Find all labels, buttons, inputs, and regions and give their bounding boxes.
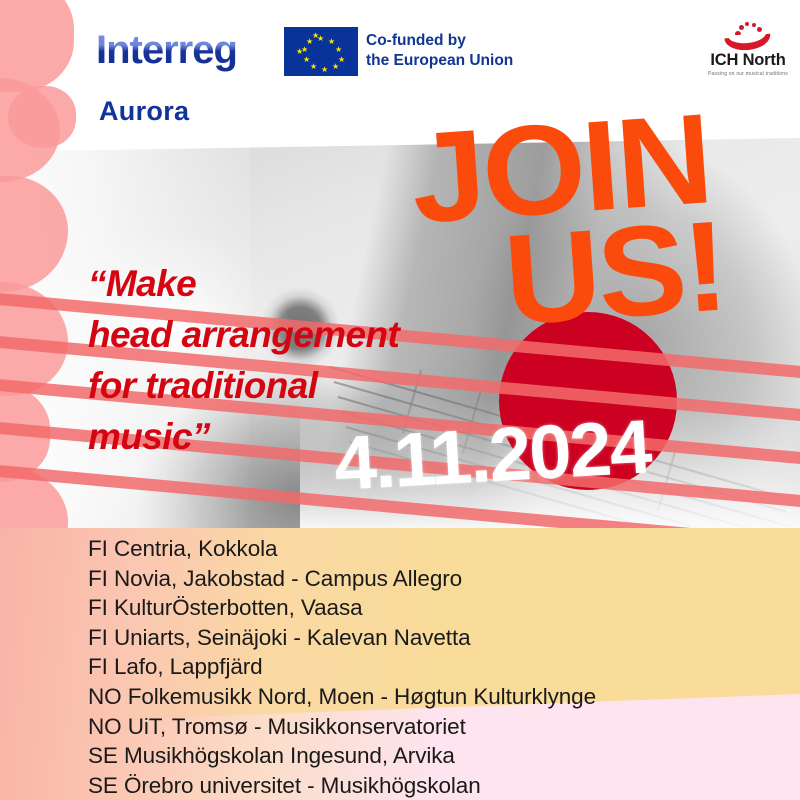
interreg-logo-text: Interreg bbox=[96, 28, 237, 73]
venue-item: FI Novia, Jakobstad - Campus Allegro bbox=[88, 564, 596, 594]
venue-panel: FI Centria, Kokkola FI Novia, Jakobstad … bbox=[0, 528, 800, 800]
eu-flag-icon: ★ ★ ★ ★ ★ ★ ★ ★ ★ ★ ★ ★ bbox=[284, 27, 358, 76]
join-us-callout: JOIN US! bbox=[408, 105, 720, 341]
venue-list: FI Centria, Kokkola FI Novia, Jakobstad … bbox=[88, 534, 596, 800]
partner-logo-tagline: Passing on our musical traditions bbox=[700, 71, 796, 77]
programme-name: Aurora bbox=[99, 96, 189, 127]
venue-item: FI KulturÖsterbotten, Vaasa bbox=[88, 593, 596, 623]
eu-funding-line-1: Co-funded by bbox=[366, 31, 513, 51]
venue-item: FI Centria, Kokkola bbox=[88, 534, 596, 564]
hand-with-dots-icon bbox=[722, 22, 774, 50]
poster-canvas: “Make head arrangement for traditional m… bbox=[0, 0, 800, 800]
venue-item: SE Örebro universitet - Musikhögskolan bbox=[88, 771, 596, 800]
venue-item: FI Uniarts, Seinäjoki - Kalevan Navetta bbox=[88, 623, 596, 653]
eu-funding-line-2: the European Union bbox=[366, 51, 513, 71]
venue-item: FI Lafo, Lappfjärd bbox=[88, 652, 596, 682]
join-us-line-2: US! bbox=[501, 212, 728, 335]
venue-item: NO UiT, Tromsø - Musikkonservatoriet bbox=[88, 712, 596, 742]
quote-line-3: for traditional bbox=[88, 360, 508, 411]
venue-item: SE Musikhögskolan Ingesund, Arvika bbox=[88, 741, 596, 771]
partner-logo-name: ICH North bbox=[700, 51, 796, 70]
eu-funding-text: Co-funded by the European Union bbox=[366, 31, 513, 71]
partner-logo: ICH North Passing on our musical traditi… bbox=[700, 22, 796, 77]
event-date: 4.11.2024 bbox=[332, 403, 652, 507]
venue-item: NO Folkemusikk Nord, Moen - Høgtun Kultu… bbox=[88, 682, 596, 712]
